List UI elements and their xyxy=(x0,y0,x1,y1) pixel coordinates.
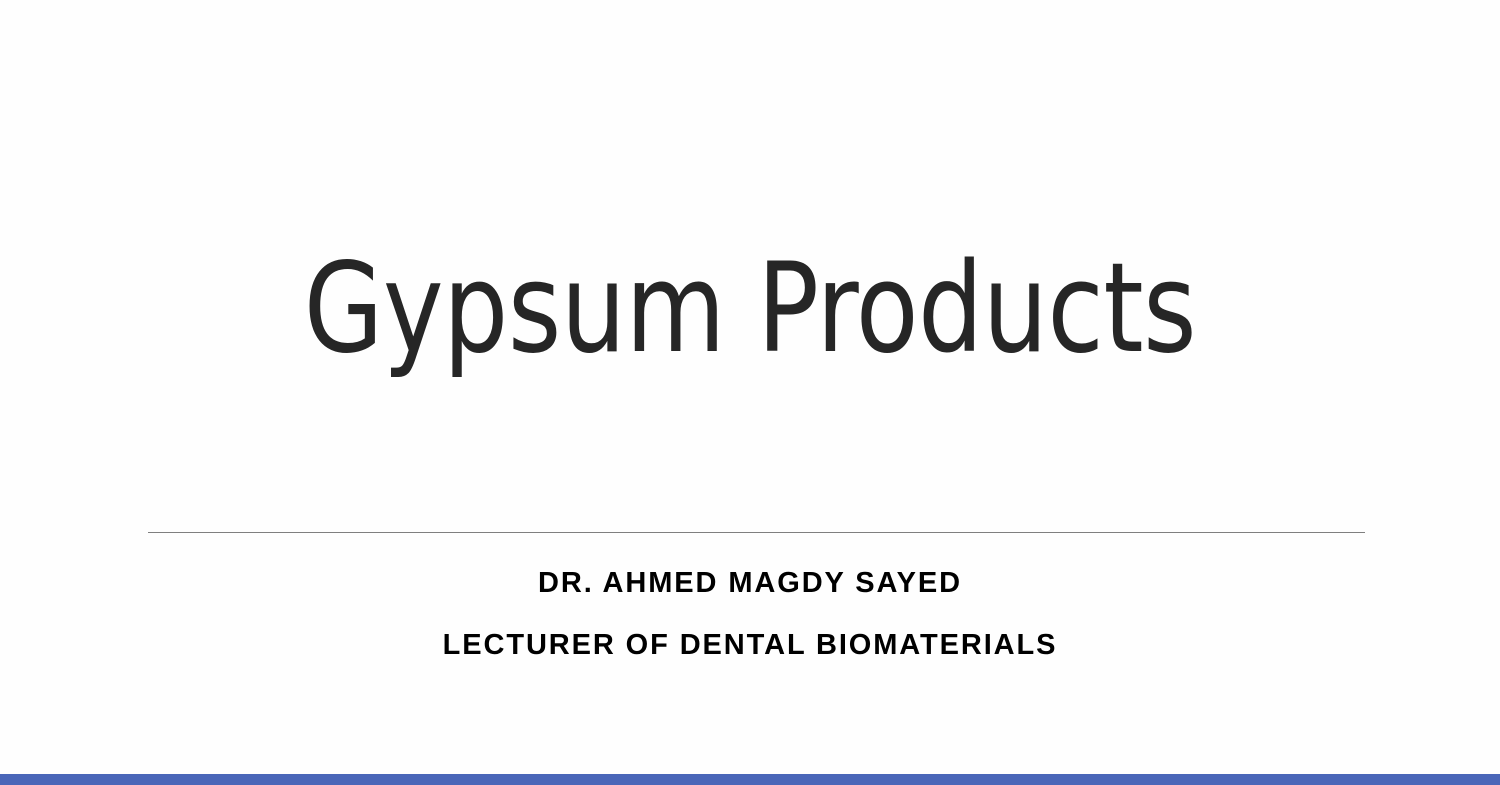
slide-title: Gypsum Products xyxy=(304,244,1196,374)
presentation-slide: Gypsum Products DR. AHMED MAGDY SAYED LE… xyxy=(0,0,1500,785)
subtitle-line-presenter-role: LECTURER OF DENTAL BIOMATERIALS xyxy=(0,614,1500,676)
subtitle-block: DR. AHMED MAGDY SAYED LECTURER OF DENTAL… xyxy=(0,552,1500,676)
subtitle-line-presenter-name: DR. AHMED MAGDY SAYED xyxy=(0,552,1500,614)
title-block: Gypsum Products xyxy=(0,222,1500,397)
title-divider-line xyxy=(148,532,1365,533)
bottom-accent-bar xyxy=(0,774,1500,785)
